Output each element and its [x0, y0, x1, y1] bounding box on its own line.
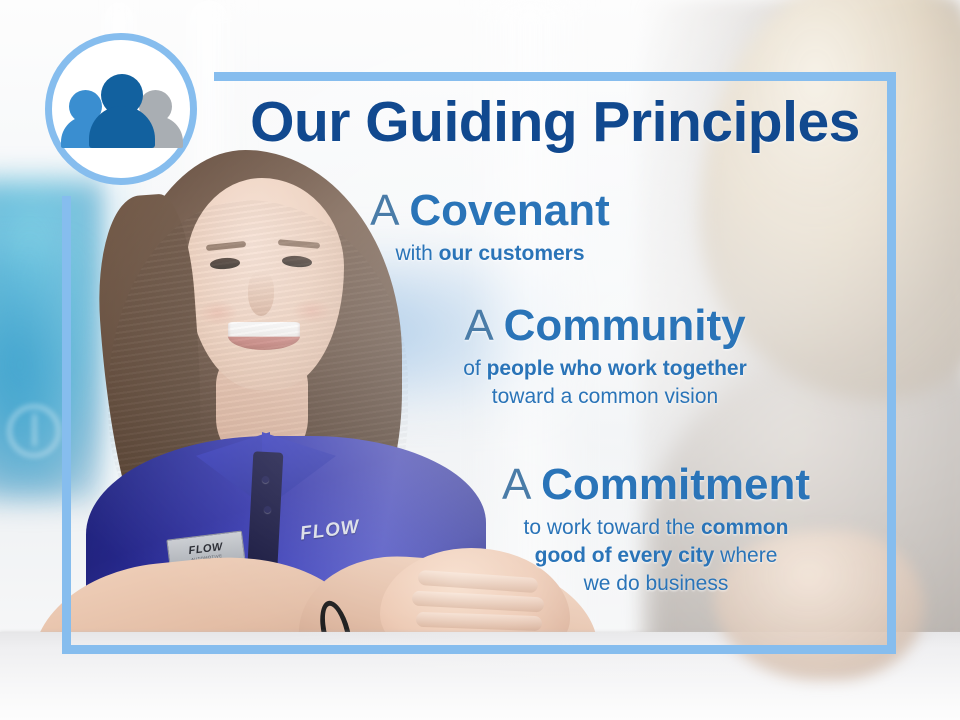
page-title: Our Guiding Principles	[214, 94, 896, 151]
principle-keyword: Commitment	[541, 460, 810, 509]
emphasis-text: common	[701, 516, 789, 539]
principle-covenant: A Covenant with our customers	[300, 188, 680, 268]
principle-community: A Community of people who work togethert…	[380, 303, 830, 411]
principle-description: with our customers	[300, 240, 680, 268]
emphasis-text: people who work together	[487, 357, 747, 380]
plain-text: with	[395, 242, 438, 265]
principle-keyword: Community	[504, 301, 746, 350]
principle-description: to work toward the commongood of every c…	[440, 514, 872, 598]
principle-heading: A Community	[380, 303, 830, 349]
principle-article: A	[370, 186, 397, 235]
principle-description-line: good of every city where	[440, 542, 872, 570]
frame-bottom-border	[62, 645, 896, 654]
principle-description-line: with our customers	[300, 240, 680, 268]
emphasis-text: good of every city	[535, 544, 715, 567]
principle-keyword: Covenant	[409, 186, 609, 235]
plain-text: we do business	[584, 572, 729, 595]
principle-article: A	[502, 460, 529, 509]
people-group-icon-badge	[45, 33, 197, 185]
frame-left-border	[62, 196, 71, 654]
polo-button	[262, 476, 269, 483]
people-group-icon	[65, 72, 177, 146]
principle-heading: A Commitment	[440, 462, 872, 508]
principle-description: of people who work togethertoward a comm…	[380, 355, 830, 411]
principle-description-line: to work toward the common	[440, 514, 872, 542]
plain-text: of	[463, 357, 486, 380]
plain-text: toward a common vision	[492, 385, 718, 408]
plain-text: to work toward the	[524, 516, 701, 539]
plain-text: where	[714, 544, 777, 567]
emphasis-text: our customers	[439, 242, 585, 265]
frame-right-border	[887, 72, 896, 654]
principle-description-line: toward a common vision	[380, 383, 830, 411]
principle-article: A	[464, 301, 491, 350]
principle-commitment: A Commitment to work toward the commongo…	[440, 462, 872, 598]
principle-heading: A Covenant	[300, 188, 680, 234]
frame-top-border	[214, 72, 896, 81]
banner-image: FLOW AUTOMOTIVE FLOW Our Guiding Princip…	[0, 0, 960, 720]
polo-button	[264, 506, 271, 513]
principle-description-line: we do business	[440, 570, 872, 598]
principle-description-line: of people who work together	[380, 355, 830, 383]
